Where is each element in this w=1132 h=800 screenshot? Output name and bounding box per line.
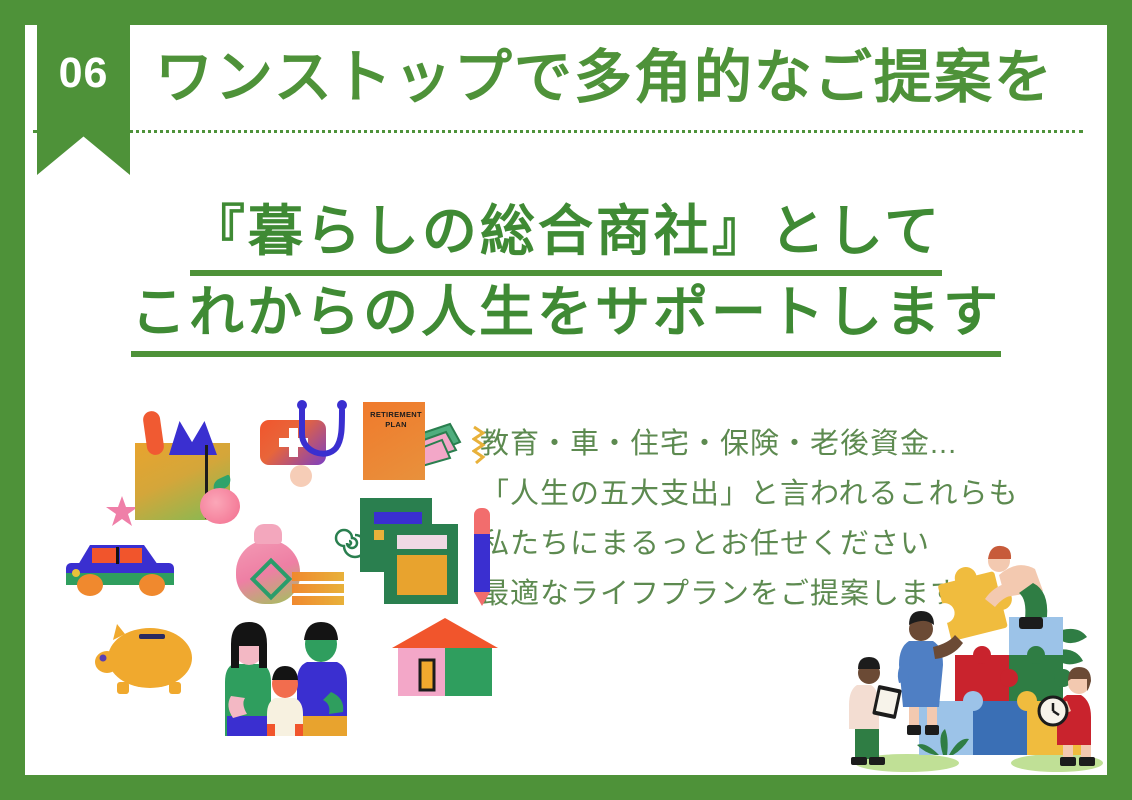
- squiggle-icon: [472, 425, 486, 465]
- page-title: ワンストップで多角的なご提案を: [155, 47, 1085, 110]
- slide-canvas: 06 ワンストップで多角的なご提案を 『暮らしの総合商社』として これからの人生…: [25, 25, 1107, 775]
- car-icon: [60, 535, 180, 597]
- folder-label-line1: RETIREMENT: [370, 410, 422, 419]
- family-icon: [215, 618, 365, 736]
- life-expenses-illustration: RETIREMENT PLAN: [60, 380, 490, 775]
- peach-icon: [200, 488, 240, 524]
- coins-icon: [292, 572, 344, 606]
- folder-label-line2: PLAN: [385, 420, 407, 429]
- header-dotted-divider: [33, 130, 1083, 133]
- body-line-1: 教育・車・住宅・保険・老後資金...: [480, 420, 1100, 470]
- section-number-label: 06: [59, 52, 109, 95]
- headline-line-1-text: 『暮らしの総合商社』として: [190, 195, 942, 276]
- headline-line-2-text: これからの人生をサポートします: [131, 276, 1001, 357]
- pen-icon: [474, 508, 490, 606]
- stethoscope-chestpiece-icon: [290, 465, 312, 487]
- body-line-2: 「人生の五大支出」と言われるこれらも: [480, 470, 1100, 520]
- headline-line-2: これからの人生をサポートします: [25, 276, 1107, 357]
- books-icon: [360, 498, 468, 606]
- section-number-ribbon: 06: [37, 25, 130, 175]
- headline-line-1: 『暮らしの総合商社』として: [25, 195, 1107, 276]
- house-icon: [390, 616, 500, 704]
- slide-root: 06 ワンストップで多角的なご提案を 『暮らしの総合商社』として これからの人生…: [0, 0, 1132, 800]
- piggy-bank-icon: [95, 620, 199, 698]
- headline-block: 『暮らしの総合商社』として これからの人生をサポートします: [25, 195, 1107, 357]
- people-assembling-puzzle-illustration: [847, 525, 1107, 775]
- retirement-plan-label: RETIREMENT PLAN: [368, 410, 424, 430]
